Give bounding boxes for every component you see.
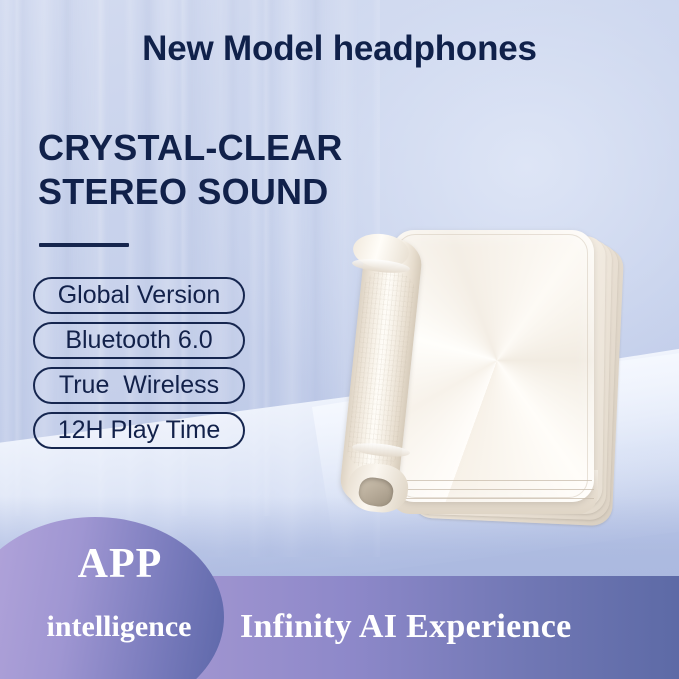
feature-badge-play-time: 12H Play Time bbox=[33, 412, 245, 449]
feature-badge-bluetooth: Bluetooth 6.0 bbox=[33, 322, 245, 359]
subheadline-line-2: STEREO SOUND bbox=[38, 170, 343, 214]
banner-app-word: APP bbox=[30, 540, 210, 588]
feature-badge-global-version: Global Version bbox=[33, 277, 245, 314]
subheadline-line-1: CRYSTAL-CLEAR bbox=[38, 126, 343, 170]
subheadline: CRYSTAL-CLEAR STEREO SOUND bbox=[38, 126, 343, 214]
headline: New Model headphones bbox=[0, 29, 679, 69]
product-ad-banner: New Model headphones CRYSTAL-CLEAR STERE… bbox=[0, 0, 679, 679]
divider-rule bbox=[39, 243, 129, 247]
feature-badge-list: Global Version Bluetooth 6.0 True Wirele… bbox=[33, 277, 245, 449]
banner-intelligence-word: intelligence bbox=[8, 610, 230, 644]
banner-tagline: Infinity AI Experience bbox=[240, 608, 572, 646]
feature-badge-true-wireless: True Wireless bbox=[33, 367, 245, 404]
